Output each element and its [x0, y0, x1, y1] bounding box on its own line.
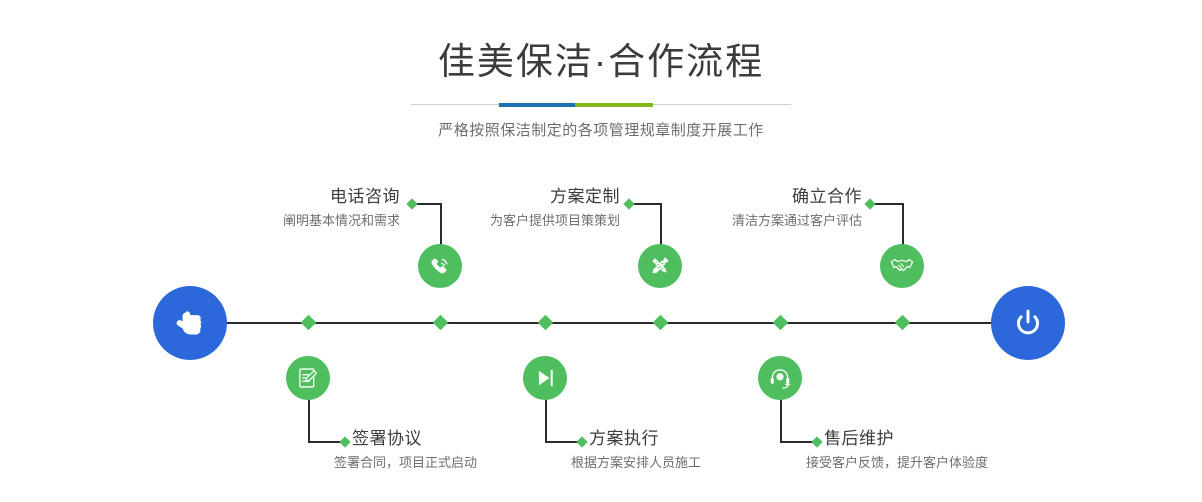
step-title-5: 确立合作 — [640, 186, 862, 208]
axis-marker-step-4 — [538, 315, 554, 331]
step-title-4: 方案执行 — [589, 428, 839, 450]
step-icon-1[interactable] — [418, 244, 462, 288]
axis-marker-step-6 — [773, 315, 789, 331]
axis-marker-step-1 — [433, 315, 449, 331]
step-desc-5: 清洁方案通过客户评估 — [640, 211, 862, 231]
step-icon-4[interactable] — [523, 356, 567, 400]
axis-marker-step-2 — [301, 315, 317, 331]
step-title-3: 方案定制 — [400, 186, 620, 208]
step-icon-5[interactable] — [880, 244, 924, 288]
timeline-axis — [155, 322, 1050, 324]
power-icon — [1009, 304, 1047, 342]
phone-call-icon — [427, 253, 453, 279]
step-label-5: 确立合作 清洁方案通过客户评估 — [640, 186, 862, 231]
step-label-3: 方案定制 为客户提供项目策策划 — [400, 186, 620, 231]
step-desc-4: 根据方案安排人员施工 — [571, 453, 839, 473]
step-label-1: 电话咨询 阐明基本情况和需求 — [175, 186, 400, 231]
axis-marker-step-3 — [653, 315, 669, 331]
timeline-start-node[interactable] — [153, 286, 227, 360]
pointing-hand-icon — [171, 304, 209, 342]
step-icon-2[interactable] — [286, 356, 330, 400]
connector-dot-step-5 — [864, 198, 875, 209]
headset-support-icon — [767, 365, 793, 391]
step-title-2: 签署协议 — [352, 428, 612, 450]
handshake-icon — [889, 253, 915, 279]
pencil-ruler-icon — [647, 253, 673, 279]
document-sign-icon — [295, 365, 321, 391]
step-title-1: 电话咨询 — [175, 186, 400, 208]
step-label-4: 方案执行 根据方案安排人员施工 — [589, 428, 839, 473]
axis-marker-step-5 — [895, 315, 911, 331]
connector-dot-step-3 — [623, 198, 634, 209]
step-desc-6: 接受客户反馈，提升客户体验度 — [806, 453, 1104, 473]
step-icon-6[interactable] — [758, 356, 802, 400]
step-icon-3[interactable] — [638, 244, 682, 288]
flow-diagram-page: 佳美保洁·合作流程 严格按照保洁制定的各项管理规章制度开展工作 — [0, 0, 1202, 502]
connector-dot-step-2 — [339, 436, 350, 447]
timeline: 电话咨询 阐明基本情况和需求 签署协议 签署合同，项目正式启动 — [0, 0, 1202, 502]
play-execute-icon — [532, 365, 558, 391]
step-desc-1: 阐明基本情况和需求 — [175, 211, 400, 231]
timeline-end-node[interactable] — [991, 286, 1065, 360]
step-label-6: 售后维护 接受客户反馈，提升客户体验度 — [824, 428, 1104, 473]
step-desc-3: 为客户提供项目策策划 — [400, 211, 620, 231]
step-title-6: 售后维护 — [824, 428, 1104, 450]
